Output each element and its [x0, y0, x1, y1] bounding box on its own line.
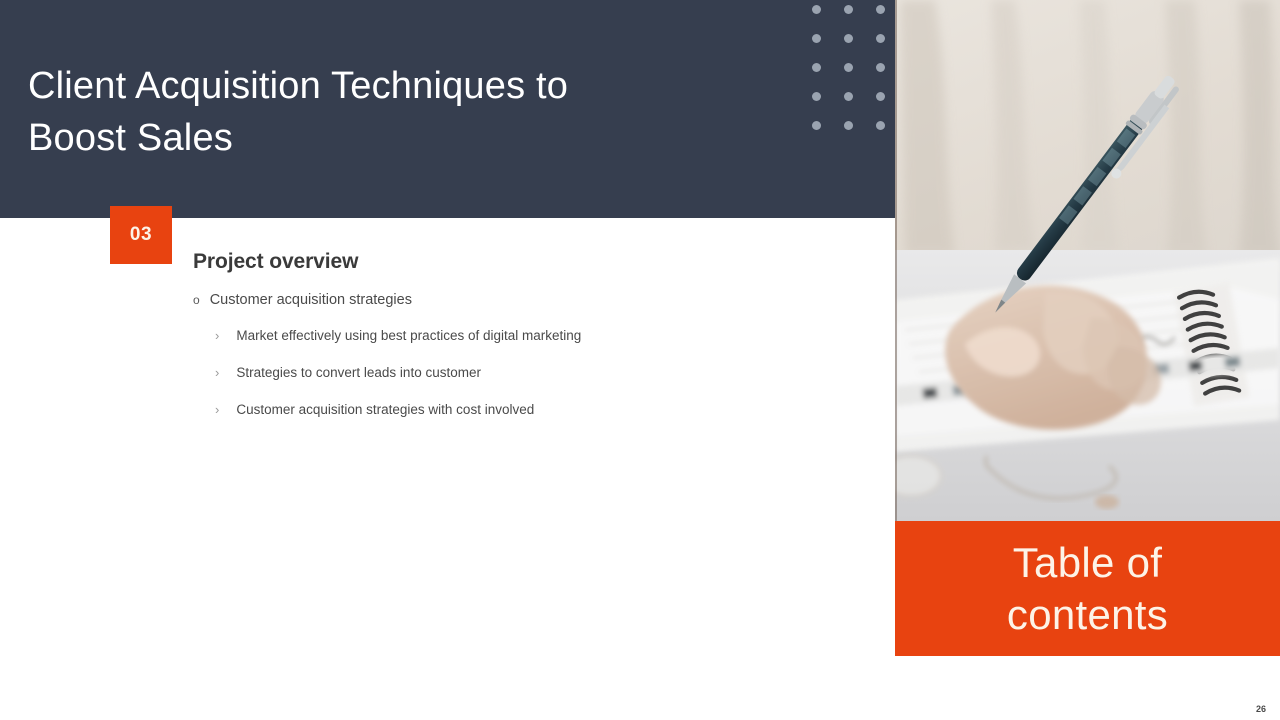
content-heading: Project overview	[193, 250, 853, 274]
page-number: 26	[1256, 704, 1266, 714]
dot-icon	[876, 63, 885, 72]
dot-icon	[876, 5, 885, 14]
table-of-contents-title: Table of contents	[1007, 537, 1168, 639]
section-number-badge: 03	[110, 206, 172, 264]
sub-list: › Market effectively using best practice…	[193, 328, 853, 419]
list-item-label: Market effectively using best practices …	[236, 328, 581, 343]
dot-icon	[844, 121, 853, 130]
dot-icon	[812, 92, 821, 101]
table-of-contents-block[interactable]: Table of contents	[895, 521, 1280, 656]
dot-icon	[844, 34, 853, 43]
hero-photo	[895, 0, 1280, 521]
page-title: Client Acquisition Techniques to Boost S…	[28, 60, 728, 165]
list-item-label: Strategies to convert leads into custome…	[236, 365, 481, 380]
photo-left-edge	[895, 0, 897, 521]
circle-bullet-icon: o	[193, 292, 200, 308]
dot-grid-decoration	[812, 5, 908, 150]
dot-icon	[844, 63, 853, 72]
list-item: › Customer acquisition strategies with c…	[215, 402, 853, 419]
section-number-label: 03	[130, 224, 152, 246]
list-item: › Market effectively using best practice…	[215, 328, 853, 345]
list-item-label: Customer acquisition strategies	[210, 292, 412, 308]
dot-icon	[876, 121, 885, 130]
dot-icon	[812, 5, 821, 14]
dot-icon	[812, 121, 821, 130]
dot-icon	[812, 34, 821, 43]
list-item: › Strategies to convert leads into custo…	[215, 365, 853, 382]
chevron-right-icon: ›	[215, 365, 219, 382]
dot-icon	[812, 63, 821, 72]
dot-icon	[876, 92, 885, 101]
dot-icon	[844, 92, 853, 101]
list-item-label: Customer acquisition strategies with cos…	[236, 402, 534, 417]
dot-icon	[876, 34, 885, 43]
list-item: o Customer acquisition strategies	[193, 292, 853, 308]
chevron-right-icon: ›	[215, 328, 219, 345]
dot-icon	[844, 5, 853, 14]
chevron-right-icon: ›	[215, 402, 219, 419]
content-area: Project overview o Customer acquisition …	[193, 250, 853, 419]
